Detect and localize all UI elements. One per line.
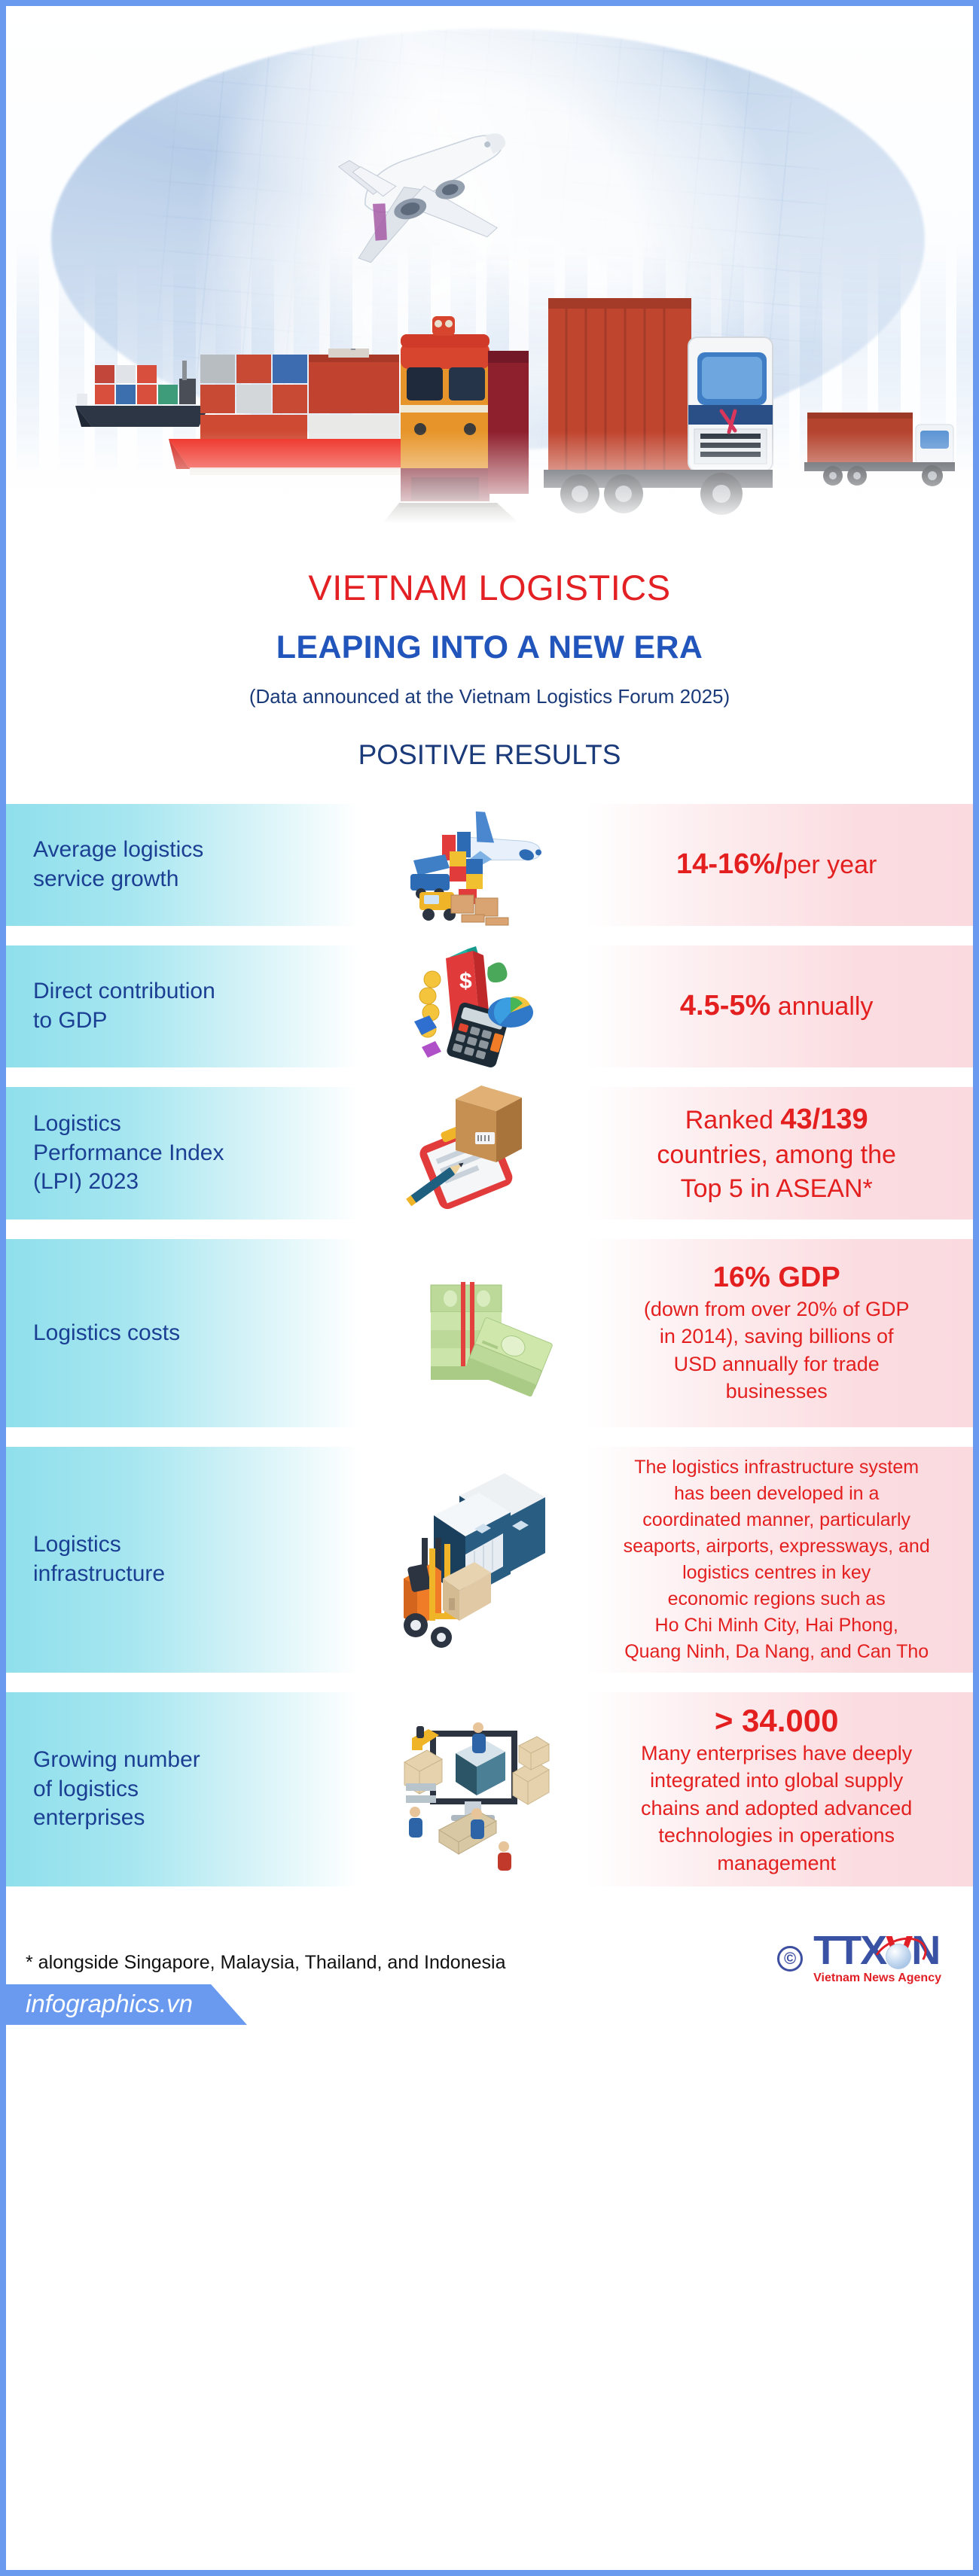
row-value-cell: 16% GDP (down from over 20% of GDP in 20… xyxy=(586,1239,973,1427)
result-row-infrastructure: Logistics infrastructure xyxy=(6,1447,973,1673)
row-label: Logistics costs xyxy=(33,1319,180,1347)
row-value: Ranked 43/139 xyxy=(685,1101,868,1138)
brand-block: © TTXVN Vietnam News Agency xyxy=(777,1932,953,1985)
row-value-bold: 16% GDP xyxy=(713,1261,840,1296)
row-value-cell: 14-16%/per year xyxy=(586,804,973,926)
row-label-cell: Logistics infrastructure xyxy=(6,1447,359,1673)
result-row-average-growth: Average logistics service growth xyxy=(6,804,973,926)
row-label-cell: Growing number of logistics enterprises xyxy=(6,1692,359,1886)
row-icon-cell xyxy=(359,804,587,926)
result-row-enterprises: Growing number of logistics enterprises xyxy=(6,1692,973,1886)
row-value-cell: The logistics infrastructure system has … xyxy=(586,1447,973,1673)
row-value-bold: > 34.000 xyxy=(715,1702,839,1740)
page-title: VIETNAM LOGISTICS xyxy=(6,568,973,607)
results-list: Average logistics service growth xyxy=(6,804,973,1886)
row-label: Logistics Performance Index (LPI) 2023 xyxy=(33,1110,224,1196)
row-value-bold: 4.5-5% xyxy=(680,990,770,1022)
row-label-cell: Direct contribution to GDP xyxy=(6,945,359,1067)
row-value: 14-16%/per year xyxy=(676,846,877,883)
row-icon-cell xyxy=(359,1087,587,1219)
infographic-page: VIETNAM LOGISTICS LEAPING INTO A NEW ERA… xyxy=(6,6,973,2570)
hero-image xyxy=(6,6,973,559)
row-description: (down from over 20% of GDP in 2014), sav… xyxy=(644,1296,910,1405)
row-value-cell: 4.5-5% annually xyxy=(586,945,973,1067)
section-heading: POSITIVE RESULTS xyxy=(6,740,973,771)
title-block: VIETNAM LOGISTICS LEAPING INTO A NEW ERA… xyxy=(6,559,973,771)
row-value-cell: Ranked 43/139 countries, among the Top 5… xyxy=(586,1087,973,1219)
money-calculator-piechart-icon: $ xyxy=(398,946,548,1067)
row-label: Growing number of logistics enterprises xyxy=(33,1746,200,1832)
warehouse-forklift-icon xyxy=(390,1466,556,1654)
row-label: Average logistics service growth xyxy=(33,836,203,894)
airplane-icon xyxy=(255,78,571,281)
row-label: Logistics infrastructure xyxy=(33,1530,165,1588)
copyright-icon: © xyxy=(777,1946,803,1972)
row-label-cell: Logistics costs xyxy=(6,1239,359,1427)
row-label: Direct contribution to GDP xyxy=(33,977,215,1035)
row-value-bold: 43/139 xyxy=(780,1104,868,1135)
ttxvn-logo: TTXVN Vietnam News Agency xyxy=(813,1932,941,1985)
row-label-cell: Logistics Performance Index (LPI) 2023 xyxy=(6,1087,359,1219)
result-row-gdp-contribution: Direct contribution to GDP $ xyxy=(6,945,973,1067)
footnote: * alongside Singapore, Malaysia, Thailan… xyxy=(26,1932,505,1974)
parcel-clipboard-icon xyxy=(401,1093,544,1213)
globe-sphere-icon xyxy=(886,1944,911,1969)
row-value-pre: Ranked xyxy=(685,1106,781,1134)
row-value-rest: annually xyxy=(770,992,873,1021)
footer: * alongside Singapore, Malaysia, Thailan… xyxy=(6,1906,973,2019)
cash-stack-icon xyxy=(398,1265,548,1401)
row-icon-cell xyxy=(359,1239,587,1427)
svg-text:$: $ xyxy=(459,969,472,994)
row-description: The logistics infrastructure system has … xyxy=(624,1454,930,1665)
ttxvn-tagline: Vietnam News Agency xyxy=(813,1972,941,1985)
plane-truck-containers-icon xyxy=(386,805,560,925)
data-source-note: (Data announced at the Vietnam Logistics… xyxy=(6,685,973,708)
row-value-rest: countries, among the Top 5 in ASEAN* xyxy=(657,1138,896,1204)
row-value-rest: per year xyxy=(783,851,877,879)
row-description: Many enterprises have deeply integrated … xyxy=(641,1740,912,1877)
hero-fade-overlay xyxy=(6,431,973,559)
page-subtitle: LEAPING INTO A NEW ERA xyxy=(6,630,973,665)
result-row-logistics-costs: Logistics costs xyxy=(6,1239,973,1427)
row-value-cell: > 34.000 Many enterprises have deeply in… xyxy=(586,1692,973,1886)
row-label-cell: Average logistics service growth xyxy=(6,804,359,926)
row-icon-cell xyxy=(359,1692,587,1886)
row-icon-cell: $ xyxy=(359,945,587,1067)
warehouse-monitor-workers-icon xyxy=(386,1707,560,1872)
row-value: 4.5-5% annually xyxy=(680,988,874,1025)
site-tab[interactable]: infographics.vn xyxy=(6,1984,247,2025)
row-value-bold: 14-16%/ xyxy=(676,848,783,880)
row-icon-cell xyxy=(359,1447,587,1673)
result-row-lpi: Logistics Performance Index (LPI) 2023 xyxy=(6,1087,973,1219)
